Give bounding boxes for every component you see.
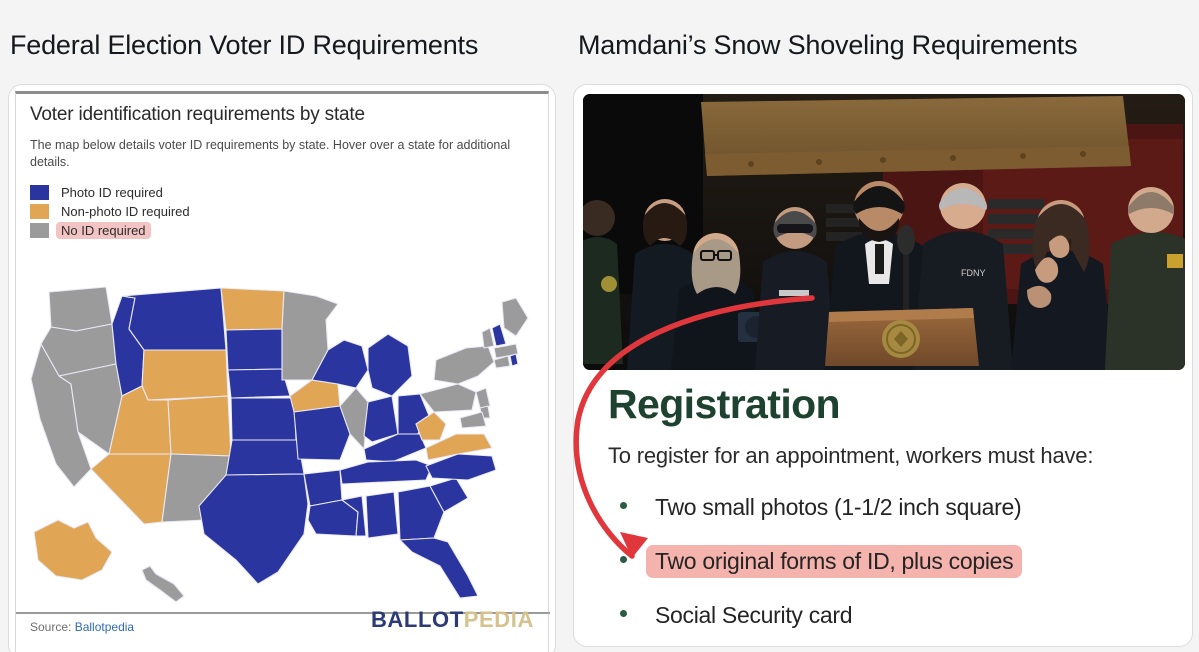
press-conference-illustration: FDNY (583, 94, 1185, 370)
legend-label-non-photo-id: Non-photo ID required (56, 203, 195, 220)
us-map[interactable] (16, 284, 550, 614)
legend-label-no-id: No ID required (56, 222, 151, 239)
requirement-item-id-highlighted: Two original forms of ID, plus copies (608, 545, 1168, 578)
state-IN (364, 396, 398, 442)
legend-swatch-no-id (30, 223, 49, 238)
state-MO (294, 406, 350, 460)
requirement-text-highlighted: Two original forms of ID, plus copies (646, 545, 1022, 578)
legend-label-photo-id: Photo ID required (56, 184, 168, 201)
state-TN (340, 460, 432, 484)
state-WY (142, 350, 228, 400)
requirement-item-ssn: Social Security card (608, 599, 1168, 632)
registration-section: Registration To register for an appointm… (608, 380, 1168, 647)
state-SD (226, 329, 282, 370)
state-CO (168, 396, 231, 456)
left-column-heading: Federal Election Voter ID Requirements (10, 30, 478, 61)
press-conference-photo: FDNY (583, 94, 1185, 370)
page-root: Federal Election Voter ID Requirements M… (0, 0, 1199, 652)
state-HI (142, 566, 184, 602)
right-column-heading: Mamdani’s Snow Shoveling Requirements (578, 30, 1077, 61)
legend-item-no-id[interactable]: No ID required (30, 221, 534, 240)
podium (825, 308, 979, 366)
registration-requirements-list: Two small photos (1-1/2 inch square) Two… (608, 491, 1168, 632)
voter-id-map-card: Voter identification requirements by sta… (8, 84, 556, 652)
legend-item-non-photo-id[interactable]: Non-photo ID required (30, 202, 534, 221)
state-MI (368, 334, 412, 396)
state-ND (221, 288, 284, 330)
requirement-text: Two small photos (1-1/2 inch square) (646, 491, 1030, 524)
state-MT (122, 288, 226, 350)
state-OK (226, 440, 304, 475)
embed-header: Voter identification requirements by sta… (16, 94, 548, 240)
state-AL (366, 492, 398, 538)
legend-item-photo-id[interactable]: Photo ID required (30, 183, 534, 202)
svg-text:FDNY: FDNY (961, 268, 986, 278)
registration-heading: Registration (608, 380, 1168, 428)
requirement-item-photos: Two small photos (1-1/2 inch square) (608, 491, 1168, 524)
logo-ballot-text: BALLOT (371, 607, 464, 632)
registration-subtitle: To register for an appointment, workers … (608, 443, 1168, 469)
state-NY (434, 346, 494, 384)
snow-shoveling-requirements-card: FDNY (573, 84, 1193, 647)
requirement-text: Social Security card (646, 599, 861, 632)
legend-swatch-photo-id (30, 185, 49, 200)
state-ME (502, 298, 528, 336)
ballotpedia-logo: BALLOTPEDIA (371, 607, 534, 633)
state-AZ (91, 454, 171, 524)
source-prefix: Source: (30, 620, 71, 634)
source-link[interactable]: Ballotpedia (75, 620, 134, 634)
state-MD (460, 412, 486, 428)
state-AK (34, 520, 112, 580)
embed-title: Voter identification requirements by sta… (30, 104, 534, 126)
state-FL (400, 538, 478, 598)
state-NE (228, 369, 290, 398)
state-KS (231, 398, 296, 440)
state-NJ (476, 388, 490, 408)
legend-swatch-non-photo-id (30, 204, 49, 219)
state-WA (49, 287, 112, 331)
state-PA (420, 384, 476, 412)
bullet-dot-icon (620, 556, 627, 563)
logo-pedia-text: PEDIA (464, 607, 534, 632)
ballotpedia-embed: Voter identification requirements by sta… (15, 91, 549, 652)
bullet-dot-icon (620, 610, 627, 617)
us-map-svg[interactable] (16, 284, 550, 614)
source-line: Source: Ballotpedia (30, 614, 134, 634)
map-legend: Photo ID required Non-photo ID required … (30, 183, 534, 240)
embed-description: The map below details voter ID requireme… (30, 137, 530, 171)
bullet-dot-icon (620, 502, 627, 509)
state-RI (510, 354, 518, 366)
state-TX (199, 474, 308, 584)
